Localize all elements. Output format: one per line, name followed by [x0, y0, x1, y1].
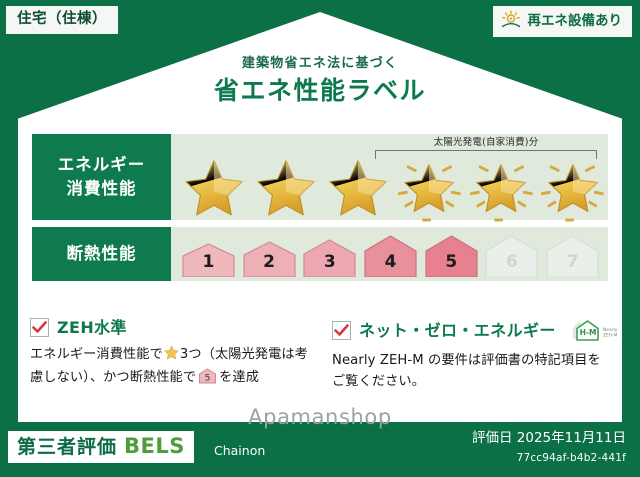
renewable-badge-label: 再エネ設備あり [528, 15, 623, 29]
net-zero-header: ネット・ゼロ・エネルギー H-M Nearly ZEH-M [332, 318, 614, 343]
zeh-body-starcount: 3つ（太陽光発電 [180, 347, 282, 362]
bels-certification-badge: 第三者評価 BELS [8, 431, 194, 463]
inline-house-badge: 5 [198, 368, 217, 391]
star-filled-solar-5 [466, 156, 537, 220]
net-zero-note: ネット・ゼロ・エネルギー H-M Nearly ZEH-M Nearly ZEH… [332, 318, 614, 393]
insulation-level-scale: 1 2 3 [171, 227, 608, 281]
energy-performance-label: 住宅（住棟） 再エネ設備あり 建築物省エネ法に基づく 省エネ性能ラベル [0, 0, 640, 477]
zeh-standard-body: エネルギー消費性能で3つ（太陽光発電は考慮しない）、かつ断熱性能で5を達成 [30, 344, 312, 392]
insulation-level-2-value: 2 [240, 254, 299, 271]
property-name: Chainon [214, 445, 265, 458]
solar-contribution-bracket: 太陽光発電(自家消費)分 [375, 138, 597, 159]
zeh-standard-header: ZEH水準 [30, 318, 312, 337]
footer-bar: 第三者評価 BELS Chainon 評価日 2025年11月11日 77cc9… [0, 422, 640, 477]
svg-text:ZEH-M: ZEH-M [603, 333, 618, 339]
svg-text:H-M: H-M [579, 328, 596, 337]
insulation-level-3-value: 3 [300, 254, 359, 271]
notes-section: ZEH水準 エネルギー消費性能で3つ（太陽光発電は考慮しない）、かつ断熱性能で5… [30, 318, 614, 393]
insulation-performance-value: 1 2 3 [171, 227, 608, 281]
zeh-body-part1: エネルギー消費性能で [30, 347, 163, 362]
insulation-level-2: 2 [240, 241, 299, 277]
title-subtitle: 建築物省エネ法に基づく [0, 56, 640, 72]
page-title: 建築物省エネ法に基づく 省エネ性能ラベル [0, 56, 640, 105]
insulation-level-6: 6 [483, 235, 542, 277]
insulation-level-5: 5 [422, 235, 481, 277]
sun-icon [500, 10, 522, 33]
insulation-level-5-value: 5 [422, 254, 481, 271]
net-zero-body: Nearly ZEH-M の要件は評価書の特記項目をご覧ください。 [332, 350, 614, 393]
energy-label-line1: エネルギー [58, 153, 146, 177]
title-heading: 省エネ性能ラベル [0, 77, 640, 106]
insulation-level-1: 1 [179, 243, 238, 277]
star-rating [171, 156, 608, 220]
insulation-label-line1: 断熱性能 [67, 242, 137, 266]
svg-text:5: 5 [205, 374, 211, 384]
zeh-standard-title: ZEH水準 [57, 320, 127, 336]
star-filled-2 [251, 156, 322, 220]
zeh-m-logo-icon: H-M Nearly ZEH-M [570, 318, 618, 343]
star-filled-1 [179, 156, 250, 220]
bracket-line [375, 150, 597, 159]
evaluation-date: 評価日 2025年11月11日 [472, 432, 626, 446]
insulation-performance-label: 断熱性能 [32, 227, 171, 281]
energy-performance-row: エネルギー 消費性能 太陽光発電(自家消費)分 [32, 134, 608, 220]
star-filled-solar-4 [394, 156, 465, 220]
bels-mark-text: BELS [124, 436, 185, 457]
insulation-level-6-value: 6 [483, 254, 542, 271]
insulation-level-7-value: 7 [543, 254, 602, 271]
solar-bracket-caption: 太陽光発電(自家消費)分 [375, 138, 597, 148]
ratings-section: エネルギー 消費性能 太陽光発電(自家消費)分 [32, 134, 608, 281]
inline-star-icon [164, 349, 179, 364]
energy-label-line2: 消費性能 [67, 177, 137, 201]
check-icon [332, 321, 351, 340]
insulation-level-1-value: 1 [179, 254, 238, 271]
bels-label-text: 第三者評価 [17, 438, 117, 457]
insulation-performance-row: 断熱性能 1 2 [32, 227, 608, 281]
zeh-standard-note: ZEH水準 エネルギー消費性能で3つ（太陽光発電は考慮しない）、かつ断熱性能で5… [30, 318, 312, 393]
renewable-energy-badge: 再エネ設備あり [493, 6, 633, 37]
zeh-body-part3: を達成 [219, 370, 259, 385]
net-zero-title: ネット・ゼロ・エネルギー [359, 323, 556, 339]
building-type-tag: 住宅（住棟） [6, 6, 118, 34]
insulation-level-3: 3 [300, 239, 359, 277]
energy-performance-value: 太陽光発電(自家消費)分 [171, 134, 608, 220]
star-filled-solar-6 [537, 156, 608, 220]
insulation-level-4: 4 [361, 235, 420, 277]
check-icon [30, 318, 49, 337]
star-filled-3 [322, 156, 393, 220]
insulation-level-7: 7 [543, 235, 602, 277]
svg-text:Nearly: Nearly [603, 327, 618, 333]
energy-performance-label: エネルギー 消費性能 [32, 134, 171, 220]
evaluation-id: 77cc94af-b4b2-441f [517, 453, 626, 464]
insulation-level-4-value: 4 [361, 254, 420, 271]
